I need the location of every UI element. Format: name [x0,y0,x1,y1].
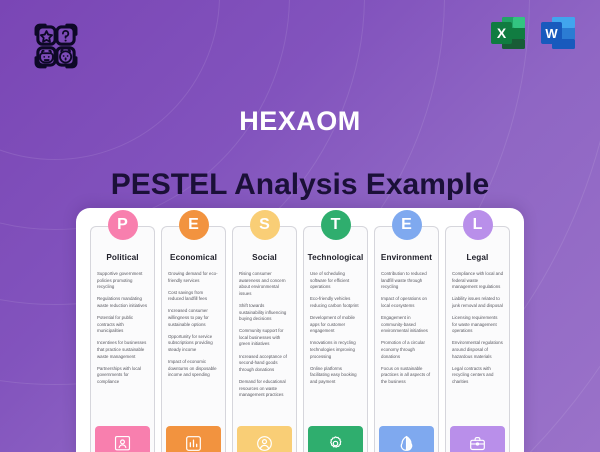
pestel-column-social: SSocialRising consumer awareness and con… [232,226,297,452]
point-item: Increased acceptance of second-hand good… [239,354,290,374]
letter-badge: T [321,210,351,240]
point-item: Eco-friendly vehicles reducing carbon fo… [310,296,361,309]
column-title: Economical [162,247,225,262]
pestel-column-environment: EEnvironmentContribution to reduced land… [374,226,439,452]
point-item: Engagement in community-based environmen… [381,315,432,335]
gear-icon [308,426,363,452]
point-item: Licensing requirements for waste managem… [452,315,503,335]
word-icon[interactable]: W [538,13,578,53]
person-icon [237,426,292,452]
point-item: Rising consumer awareness and concern ab… [239,271,290,297]
point-item: Compliance with local and federal waste … [452,271,503,291]
point-item: Contribution to reduced landfill waste t… [381,271,432,291]
point-item: Community support for local businesses w… [239,328,290,348]
point-item: Regulations mandating waste reduction in… [97,296,148,309]
point-item: Use of scheduling software for efficient… [310,271,361,291]
point-item: Environmental regulations around disposa… [452,340,503,360]
letter-badge: E [392,210,422,240]
point-item: Online platforms facilitating easy booki… [310,366,361,386]
point-item: Promotion of a circular economy through … [381,340,432,360]
point-item: Impact of operations on local ecosystems [381,296,432,309]
point-item: Demand for educational resources on wast… [239,379,290,399]
point-item: Legal contracts with recycling centers a… [452,366,503,386]
column-title: Technological [304,247,367,262]
pestel-column-political: PPoliticalSupportive government policies… [90,226,155,452]
letter-badge: L [463,210,493,240]
page-title: PESTEL Analysis Example [0,168,600,202]
pestel-card: PPoliticalSupportive government policies… [76,208,524,452]
point-item: Growing demand for eco-friendly services [168,271,219,284]
company-name: HEXAOM [0,106,600,137]
bar-chart-icon [166,426,221,452]
point-item: Cost savings from reduced landfill fees [168,290,219,303]
point-item: Innovations in recycling technologies im… [310,340,361,360]
point-item: Liability issues related to junk removal… [452,296,503,309]
excel-icon[interactable]: X [488,13,528,53]
pet-grid-logo-icon [27,17,85,75]
point-item: Partnerships with local governments for … [97,366,148,386]
letter-badge: P [108,210,138,240]
office-icons-group: X W [488,13,578,53]
point-item: Shift towards sustainability influencing… [239,303,290,323]
column-points: Use of scheduling software for efficient… [304,262,367,426]
pestel-columns: PPoliticalSupportive government policies… [90,226,510,452]
column-title: Legal [446,247,509,262]
point-item: Opportunity for service subscriptions pr… [168,334,219,354]
person-badge-icon [95,426,150,452]
column-points: Growing demand for eco-friendly services… [162,262,225,426]
svg-text:X: X [497,25,507,41]
column-points: Supportive government policies promoting… [91,262,154,426]
column-title: Environment [375,247,438,262]
leaf-icon [379,426,434,452]
point-item: Impact of economic downturns on disposab… [168,359,219,379]
column-points: Compliance with local and federal waste … [446,262,509,426]
point-item: Development of mobile apps for customer … [310,315,361,335]
point-item: Focus on sustainable practices in all as… [381,366,432,386]
letter-badge: S [250,210,280,240]
svg-text:W: W [545,26,558,41]
pestel-poster: X W HEXAOM PESTEL Analysis Example PPoli… [0,0,600,452]
pestel-column-technological: TTechnologicalUse of scheduling software… [303,226,368,452]
column-title: Political [91,247,154,262]
column-points: Rising consumer awareness and concern ab… [233,262,296,426]
column-points: Contribution to reduced landfill waste t… [375,262,438,426]
point-item: Incentives for businesses that practice … [97,340,148,360]
pestel-column-economical: EEconomicalGrowing demand for eco-friend… [161,226,226,452]
column-title: Social [233,247,296,262]
briefcase-icon [450,426,505,452]
point-item: Increased consumer willingness to pay fo… [168,308,219,328]
point-item: Supportive government policies promoting… [97,271,148,291]
pestel-column-legal: LLegalCompliance with local and federal … [445,226,510,452]
letter-badge: E [179,210,209,240]
point-item: Potential for public contracts with muni… [97,315,148,335]
